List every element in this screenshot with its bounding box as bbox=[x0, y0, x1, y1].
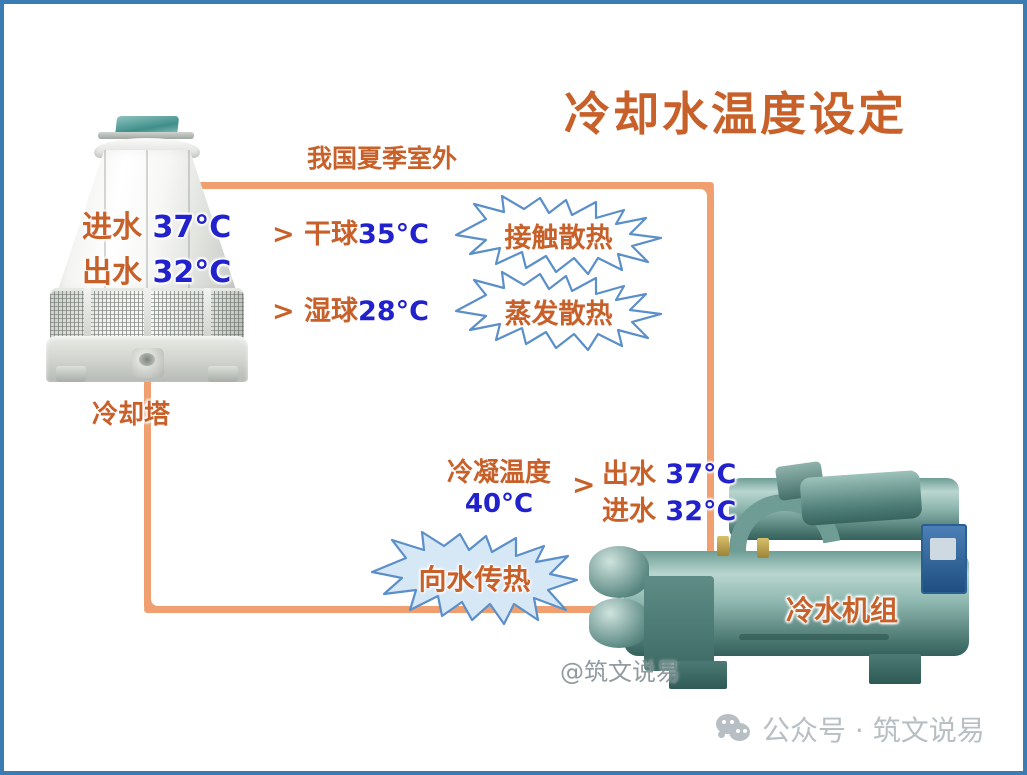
cooling-tower-foot bbox=[208, 366, 238, 382]
cooling-tower-foot bbox=[56, 366, 86, 382]
page-title: 冷却水温度设定 bbox=[564, 78, 907, 144]
starburst-evaporative-heat: 蒸发散热 bbox=[456, 272, 661, 350]
cooling-tower-post bbox=[204, 288, 211, 340]
bottom-watermark: 公众号 · 筑文说易 bbox=[716, 709, 985, 749]
wet-bulb-value: 28°C bbox=[358, 296, 429, 327]
wet-bulb-label: 湿球 bbox=[304, 296, 358, 327]
chiller-nozzle bbox=[757, 538, 769, 558]
condenser-temp-label: 冷凝温度 bbox=[434, 452, 564, 489]
chiller-support-leg bbox=[869, 654, 921, 684]
chiller-name-label: 冷水机组 bbox=[786, 589, 898, 629]
tower-outlet-value: 32°C bbox=[152, 255, 231, 290]
dry-bulb-value: 35°C bbox=[358, 219, 429, 250]
pipe-segment-top bbox=[190, 182, 714, 189]
condenser-temp-value: 40°C bbox=[434, 489, 564, 519]
starburst-evaporative-heat-label: 蒸发散热 bbox=[456, 272, 661, 350]
wet-bulb-row: > 湿球28°C bbox=[272, 289, 429, 328]
wet-bulb-gt: > bbox=[272, 296, 295, 327]
chiller-outlet-text: 出水 bbox=[602, 459, 656, 490]
cooling-tower-outlet-pipe bbox=[132, 348, 164, 378]
chiller-inlet-text: 进水 bbox=[602, 496, 656, 527]
chiller-control-panel bbox=[921, 524, 967, 594]
tower-inlet-text: 进水 bbox=[82, 210, 142, 245]
cooling-tower-post bbox=[144, 288, 151, 340]
starburst-heat-to-water-label: 向水传热 bbox=[372, 532, 577, 624]
chiller-water-box-lower bbox=[589, 598, 649, 648]
tower-outlet-label: 出水 32°C bbox=[82, 247, 231, 291]
chiller-water-box-upper bbox=[589, 546, 649, 598]
chiller-inlet-value: 32°C bbox=[665, 496, 736, 527]
cooling-tower-post bbox=[84, 288, 91, 340]
dry-bulb-row: > 干球35°C bbox=[272, 212, 429, 251]
chiller-compressor bbox=[799, 470, 922, 526]
bottom-watermark-text: 公众号 · 筑文说易 bbox=[762, 709, 985, 749]
tower-inlet-label: 进水 37°C bbox=[82, 202, 231, 246]
tower-outlet-text: 出水 bbox=[82, 255, 142, 290]
wechat-icon bbox=[716, 714, 750, 744]
dry-bulb-gt: > bbox=[272, 219, 295, 250]
chiller-handrail bbox=[739, 634, 889, 640]
outdoor-condition-caption: 我国夏季室外 bbox=[307, 139, 457, 175]
starburst-contact-heat-label: 接触散热 bbox=[456, 196, 661, 274]
chiller-comparison-gt: > bbox=[572, 468, 595, 501]
chiller-outlet-label: 出水 37°C bbox=[602, 452, 736, 491]
starburst-contact-heat: 接触散热 bbox=[456, 196, 661, 274]
starburst-heat-to-water: 向水传热 bbox=[372, 532, 577, 624]
inline-watermark: @筑文说易 bbox=[560, 652, 680, 687]
slide-canvas: 冷却水温度设定 进水 37°C 出水 32°C 冷却塔 我国夏季室外 > 干球3… bbox=[0, 0, 1027, 775]
tower-inlet-value: 37°C bbox=[152, 210, 231, 245]
chiller-nozzle bbox=[717, 536, 729, 556]
cooling-tower-name-label: 冷却塔 bbox=[92, 394, 170, 431]
chiller-outlet-value: 37°C bbox=[665, 459, 736, 490]
chiller-inlet-label: 进水 32°C bbox=[602, 489, 736, 528]
dry-bulb-label: 干球 bbox=[304, 219, 358, 250]
